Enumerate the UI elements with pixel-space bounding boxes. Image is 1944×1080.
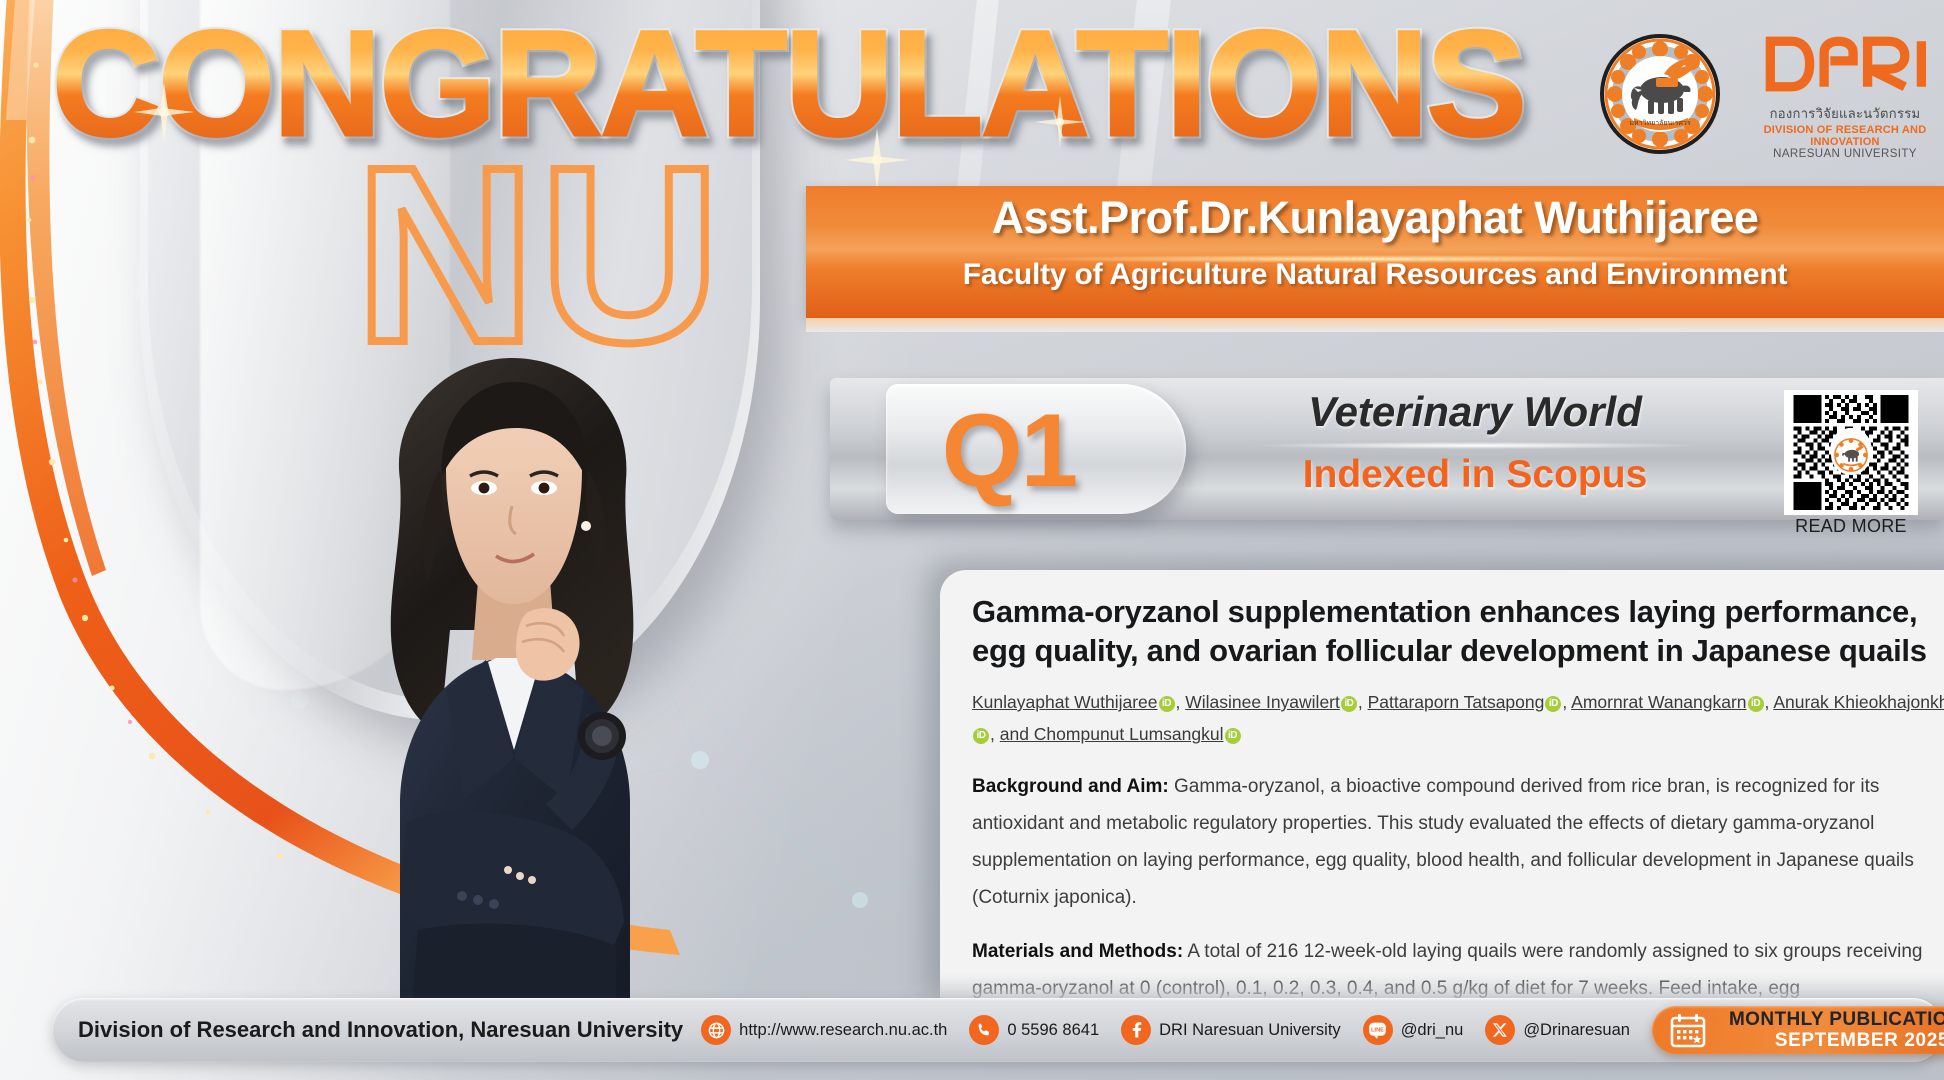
- abstract-card: Gamma-oryzanol supplementation enhances …: [940, 570, 1944, 1008]
- researcher-faculty: Faculty of Agriculture Natural Resources…: [806, 258, 1944, 292]
- author-separator: ,: [1176, 692, 1186, 712]
- footer-contact-item[interactable]: LINE@dri_nu: [1363, 1015, 1464, 1045]
- orcid-icon[interactable]: iD: [1159, 696, 1175, 712]
- orcid-icon[interactable]: iD: [1341, 696, 1357, 712]
- journal-index-status: Indexed in Scopus: [1190, 453, 1760, 497]
- qr-code-block[interactable]: READ MORE: [1784, 390, 1918, 540]
- quartile-label: Q1: [886, 386, 1132, 516]
- author-link[interactable]: Pattaraporn Tatsapong: [1368, 692, 1545, 712]
- footer-contact-text: DRI Naresuan University: [1159, 1021, 1341, 1040]
- author-link[interactable]: Kunlayaphat Wuthijaree: [972, 692, 1158, 712]
- footer-contact-item[interactable]: @Drinaresuan: [1485, 1015, 1630, 1045]
- author-separator: ,: [1765, 692, 1774, 712]
- journal-name: Veterinary World: [1190, 388, 1760, 436]
- congratulations-headline: CONGRATULATIONS: [52, 8, 1525, 158]
- orcid-icon[interactable]: iD: [1545, 696, 1561, 712]
- abstract-heading: Materials and Methods:: [972, 941, 1183, 962]
- quartile-badge: Q1: [886, 384, 1186, 514]
- facebook-icon: [1121, 1015, 1151, 1045]
- dri-english-label: DIVISION OF RESEARCH AND INNOVATION: [1760, 124, 1930, 148]
- author-separator: ,: [1358, 692, 1368, 712]
- author-link[interactable]: Wilasinee Inyawilert: [1185, 692, 1340, 712]
- read-more-label: READ MORE: [1778, 516, 1924, 537]
- article-title: Gamma-oryzanol supplementation enhances …: [972, 592, 1944, 670]
- journal-divider: [1253, 442, 1698, 449]
- badge-line-1: MONTHLY PUBLICATION OF: [1720, 1009, 1944, 1030]
- footer-contact-item[interactable]: DRI Naresuan University: [1121, 1015, 1341, 1045]
- footer-organization: Division of Research and Innovation, Nar…: [78, 1017, 683, 1043]
- qr-center-seal-icon: [1831, 435, 1871, 475]
- line-icon: LINE: [1363, 1015, 1393, 1045]
- author-list: Kunlayaphat WuthijareeiD, Wilasinee Inya…: [972, 686, 1944, 751]
- abstract-paragraph: Background and Aim: Gamma-oryzanol, a bi…: [972, 768, 1944, 916]
- footer-contact-text: @dri_nu: [1401, 1021, 1464, 1040]
- portrait-photo: [250, 330, 770, 1030]
- orcid-icon[interactable]: iD: [1748, 696, 1764, 712]
- monthly-publication-badge: MONTHLY PUBLICATION OF SEPTEMBER 2025: [1652, 1006, 1944, 1054]
- globe-icon: [701, 1015, 731, 1045]
- author-separator: ,: [1562, 692, 1571, 712]
- footer-contact-text: @Drinaresuan: [1523, 1021, 1630, 1040]
- dri-wordmark-icon: [1760, 34, 1936, 94]
- qr-code[interactable]: [1784, 390, 1918, 515]
- author-link[interactable]: and Chompunut Lumsangkul: [1000, 724, 1224, 744]
- phone-icon: [969, 1015, 999, 1045]
- footer-contact-item[interactable]: 0 5596 8641: [969, 1015, 1099, 1045]
- footer-contact-item[interactable]: http://www.research.nu.ac.th: [701, 1015, 947, 1045]
- badge-line-2: SEPTEMBER 2025: [1720, 1030, 1944, 1051]
- x-twitter-icon: [1485, 1015, 1515, 1045]
- naresuan-seal-icon: มหาวิทยาลัยนเรศวร: [1598, 32, 1722, 156]
- svg-text:มหาวิทยาลัยนเรศวร: มหาวิทยาลัยนเรศวร: [1629, 119, 1690, 127]
- footer-contact-text: 0 5596 8641: [1007, 1021, 1099, 1040]
- footer-contacts: http://www.research.nu.ac.th0 5596 8641D…: [701, 1015, 1652, 1045]
- svg-text:LINE: LINE: [1371, 1027, 1384, 1033]
- footer-bar: Division of Research and Innovation, Nar…: [52, 998, 1944, 1062]
- footer-contact-text: http://www.research.nu.ac.th: [739, 1021, 947, 1040]
- orcid-icon[interactable]: iD: [973, 728, 989, 744]
- dri-thai-label: กองการวิจัยและนวัตกรรม: [1760, 103, 1930, 124]
- abstract-heading: Background and Aim:: [972, 776, 1169, 797]
- journal-info: Veterinary World Indexed in Scopus: [1190, 388, 1760, 497]
- researcher-name-band: Asst.Prof.Dr.Kunlayaphat Wuthijaree Facu…: [806, 186, 1944, 318]
- dri-university-label: NARESUAN UNIVERSITY: [1760, 148, 1930, 160]
- researcher-name: Asst.Prof.Dr.Kunlayaphat Wuthijaree: [806, 192, 1944, 244]
- orcid-icon[interactable]: iD: [1225, 728, 1241, 744]
- calendar-icon: [1670, 1012, 1706, 1048]
- abstract-sections: Background and Aim: Gamma-oryzanol, a bi…: [972, 768, 1944, 1007]
- author-link[interactable]: Anurak Khieokhajonkhet: [1773, 692, 1944, 712]
- name-band-edge: [806, 318, 1944, 332]
- author-link[interactable]: Amornrat Wanangkarn: [1571, 692, 1746, 712]
- badge-text: MONTHLY PUBLICATION OF SEPTEMBER 2025: [1720, 1009, 1944, 1052]
- author-separator: ,: [990, 724, 1000, 744]
- dri-logo: กองการวิจัยและนวัตกรรม DIVISION OF RESEA…: [1760, 34, 1930, 154]
